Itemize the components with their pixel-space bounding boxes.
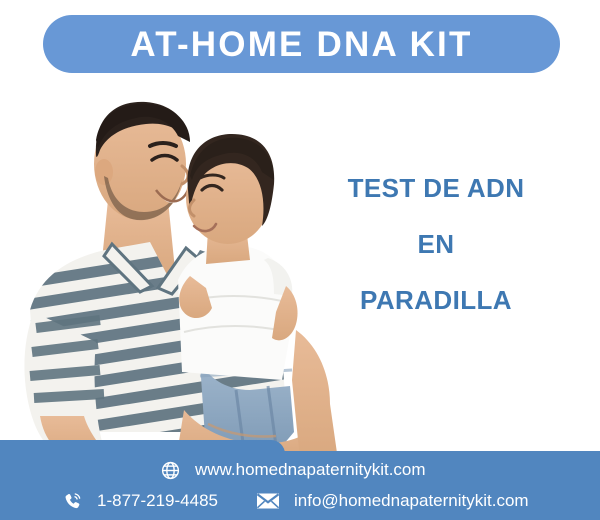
family-photo (0, 80, 340, 460)
website-url[interactable]: www.homednapaternitykit.com (195, 460, 426, 480)
header-banner: AT-HOME DNA KIT (43, 15, 560, 73)
headline-line-1: TEST DE ADN (346, 160, 526, 216)
footer-email-item: info@homednapaternitykit.com (256, 491, 529, 511)
phone-icon (62, 491, 83, 512)
headline-line-3: PARADILLA (346, 272, 526, 328)
dna-kit-promo-card: AT-HOME DNA KIT (0, 0, 600, 520)
family-photo-illustration (0, 80, 340, 460)
page-title: AT-HOME DNA KIT (130, 27, 472, 62)
email-address[interactable]: info@homednapaternitykit.com (294, 491, 529, 511)
footer-content: www.homednapaternitykit.com 1-877-219-44… (0, 451, 600, 520)
envelope-icon (256, 492, 280, 510)
phone-number[interactable]: 1-877-219-4485 (97, 491, 218, 511)
footer-website-row: www.homednapaternitykit.com (0, 455, 600, 486)
globe-icon (160, 460, 181, 481)
footer-contact-row: 1-877-219-4485 info@homednapaternitykit.… (0, 486, 600, 517)
headline-line-2: EN (346, 216, 526, 272)
headline-block: TEST DE ADN EN PARADILLA (346, 160, 526, 328)
